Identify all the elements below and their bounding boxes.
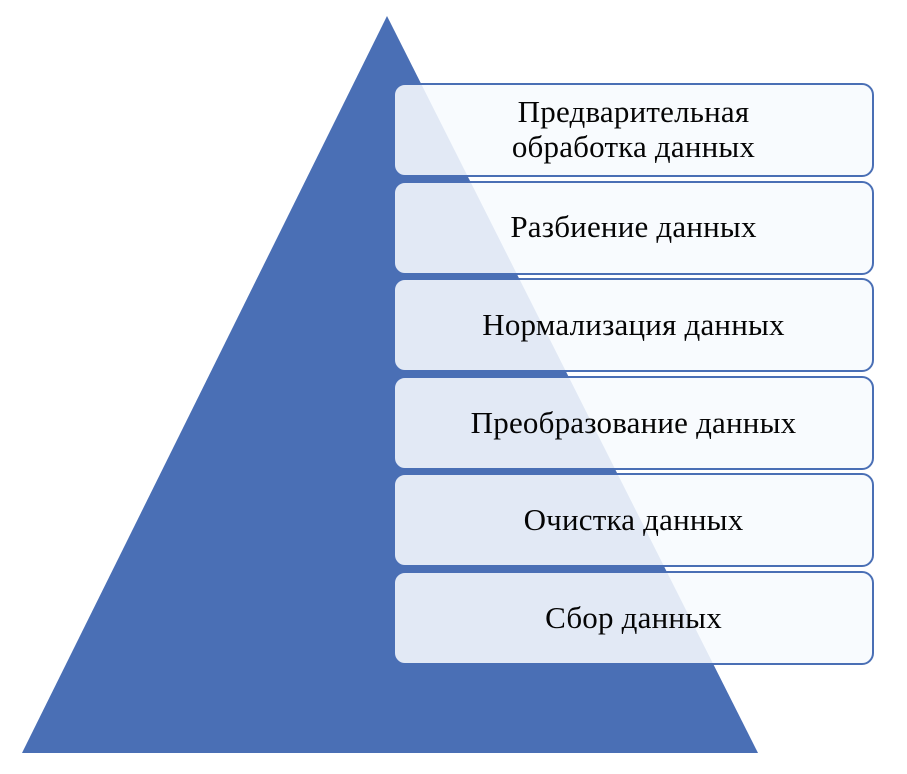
step-box-normalization[interactable]: Нормализация данных <box>393 278 874 372</box>
step-box-collection[interactable]: Сбор данных <box>393 571 874 665</box>
pyramid-step-stack: Предварительная обработка данных Разбиен… <box>393 83 874 665</box>
step-label-normalization: Нормализация данных <box>468 309 798 342</box>
step-box-splitting[interactable]: Разбиение данных <box>393 181 874 275</box>
step-label-transformation: Преобразование данных <box>457 407 811 440</box>
step-label-cleaning: Очистка данных <box>510 504 758 537</box>
step-label-collection: Сбор данных <box>531 602 736 635</box>
step-label-preprocessing: Предварительная обработка данных <box>498 95 769 164</box>
step-box-cleaning[interactable]: Очистка данных <box>393 473 874 567</box>
diagram-canvas: Предварительная обработка данных Разбиен… <box>0 0 907 774</box>
step-box-transformation[interactable]: Преобразование данных <box>393 376 874 470</box>
step-box-preprocessing[interactable]: Предварительная обработка данных <box>393 83 874 177</box>
step-label-splitting: Разбиение данных <box>496 211 770 244</box>
